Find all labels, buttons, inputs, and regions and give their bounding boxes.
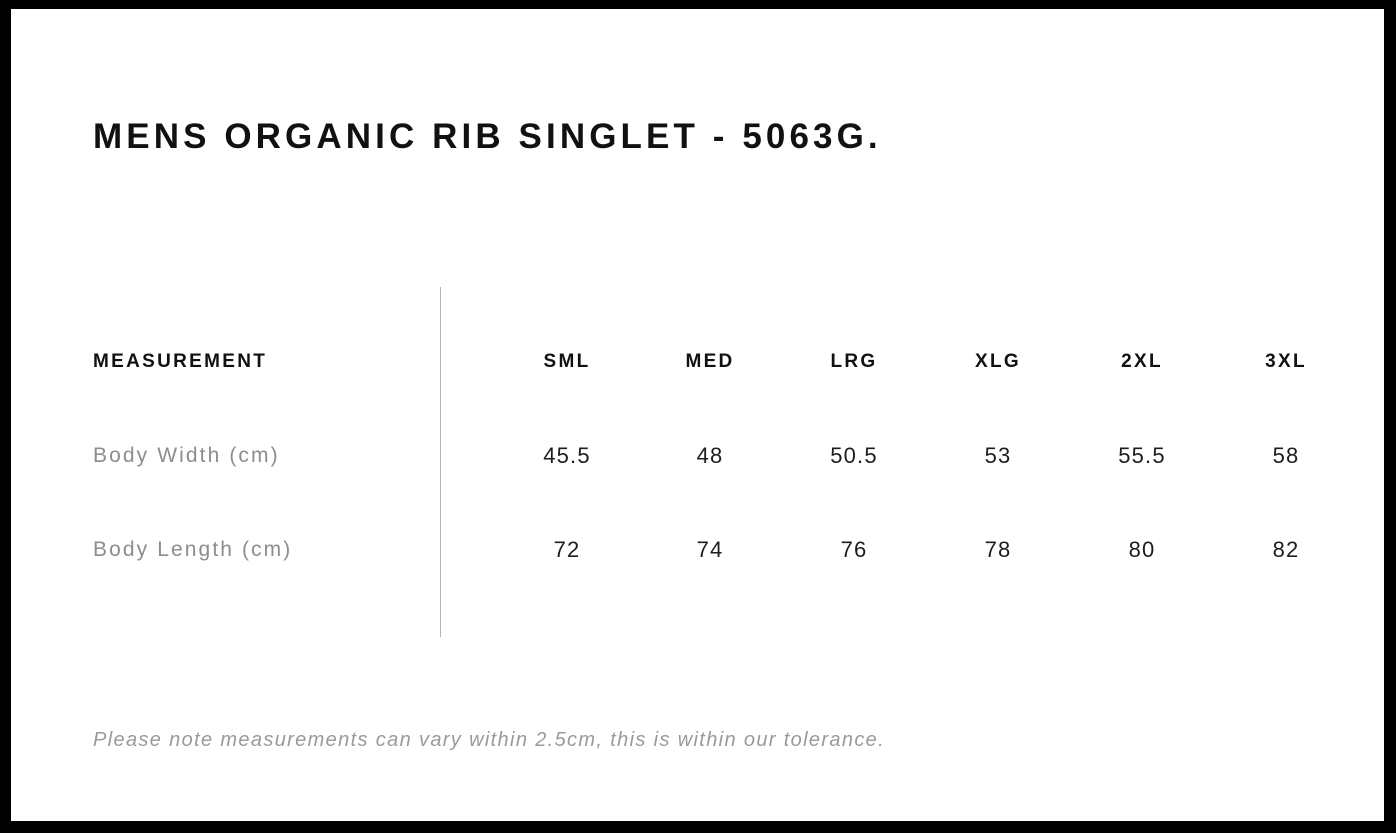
column-header-measurement: MEASUREMENT [93, 349, 267, 375]
cell-body-length-sml: 72 [497, 537, 637, 563]
size-chart-table: MEASUREMENT SML MED LRG XLG 2XL 3XL Body… [11, 9, 1384, 821]
cell-body-width-lrg: 50.5 [784, 443, 924, 469]
table-grid: MEASUREMENT SML MED LRG XLG 2XL 3XL Body… [11, 349, 1384, 631]
page-border-frame: MENS ORGANIC RIB SINGLET - 5063G. MEASUR… [0, 0, 1396, 833]
table-row: Body Width (cm) 45.5 48 50.5 53 55.5 58 [11, 443, 1384, 537]
cell-body-width-3xl: 58 [1216, 443, 1356, 469]
cell-body-length-med: 74 [640, 537, 780, 563]
column-header-2xl: 2XL [1072, 349, 1212, 375]
cell-body-length-2xl: 80 [1072, 537, 1212, 563]
size-chart-card: MENS ORGANIC RIB SINGLET - 5063G. MEASUR… [11, 9, 1384, 821]
cell-body-width-2xl: 55.5 [1072, 443, 1212, 469]
table-row: Body Length (cm) 72 74 76 78 80 82 [11, 537, 1384, 631]
column-header-xlg: XLG [928, 349, 1068, 375]
cell-body-length-3xl: 82 [1216, 537, 1356, 563]
cell-body-width-xlg: 53 [928, 443, 1068, 469]
column-header-sml: SML [497, 349, 637, 375]
row-label-body-length: Body Length (cm) [93, 537, 292, 563]
table-header-row: MEASUREMENT SML MED LRG XLG 2XL 3XL [11, 349, 1384, 443]
column-header-lrg: LRG [784, 349, 924, 375]
row-label-body-width: Body Width (cm) [93, 443, 280, 469]
column-header-med: MED [640, 349, 780, 375]
cell-body-width-sml: 45.5 [497, 443, 637, 469]
cell-body-width-med: 48 [640, 443, 780, 469]
column-header-3xl: 3XL [1216, 349, 1356, 375]
tolerance-footnote: Please note measurements can vary within… [93, 727, 885, 753]
cell-body-length-lrg: 76 [784, 537, 924, 563]
cell-body-length-xlg: 78 [928, 537, 1068, 563]
